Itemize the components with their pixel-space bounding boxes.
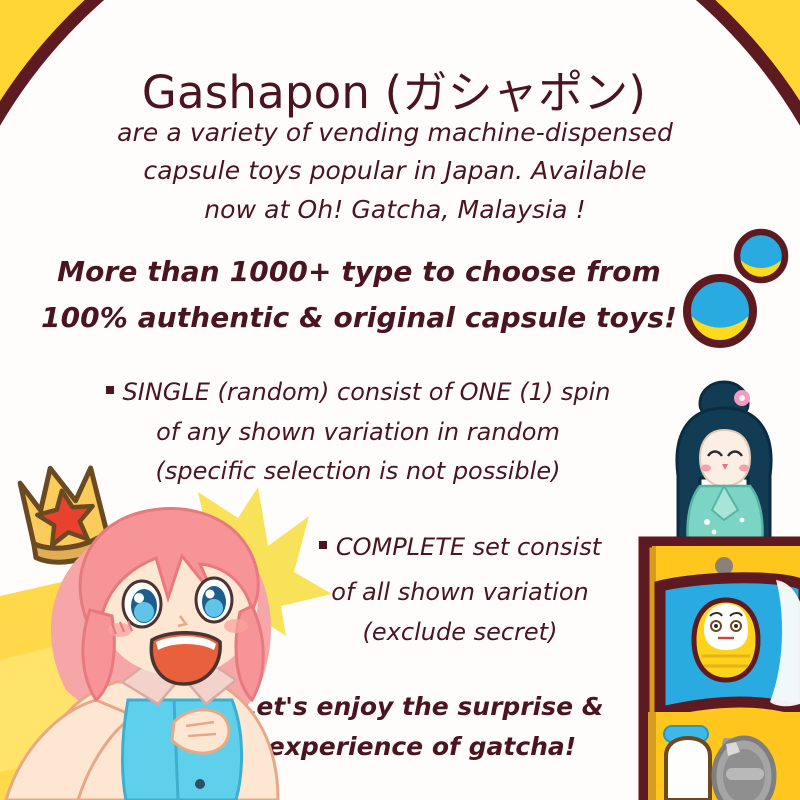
title-brand: Gashapon	[142, 66, 370, 119]
single-bullet-line-2: of any shown variation in random	[0, 418, 758, 446]
lead-line-1: are a variety of vending machine-dispens…	[0, 118, 795, 147]
single-bullet-line-1: SINGLE (random) consist of ONE (1) spin	[0, 378, 758, 406]
single-bullet-line-3: (specific selection is not possible)	[0, 457, 758, 485]
closing-line-1: Let's enjoy the surprise &	[22, 692, 800, 721]
complete-bullet-line-1: COMPLETE set consist	[60, 533, 800, 561]
gashapon-promo-poster: Gashapon (ガシャポン) are a variety of vendin…	[0, 0, 800, 800]
square-bullet-icon	[319, 541, 327, 549]
poster-copy: Gashapon (ガシャポン) are a variety of vendin…	[0, 0, 800, 800]
single-bullet-text-1: SINGLE (random) consist of ONE (1) spin	[123, 378, 611, 406]
page-title: Gashapon (ガシャポン)	[0, 56, 794, 121]
closing-line-2: experience of gatcha!	[22, 732, 800, 761]
lead-line-3: now at Oh! Gatcha, Malaysia !	[0, 195, 795, 224]
complete-bullet-line-3: (exclude secret)	[60, 618, 800, 646]
square-bullet-icon	[106, 386, 114, 394]
complete-bullet-text-1: COMPLETE set consist	[336, 533, 601, 561]
bold-claim-2: 100% authentic & original capsule toys!	[0, 301, 759, 334]
title-japanese: (ガシャポン)	[385, 66, 647, 119]
lead-line-2: capsule toys popular in Japan. Available	[0, 156, 795, 185]
bold-claim-1: More than 1000+ type to choose from	[0, 255, 759, 288]
complete-bullet-line-2: of all shown variation	[60, 578, 800, 606]
